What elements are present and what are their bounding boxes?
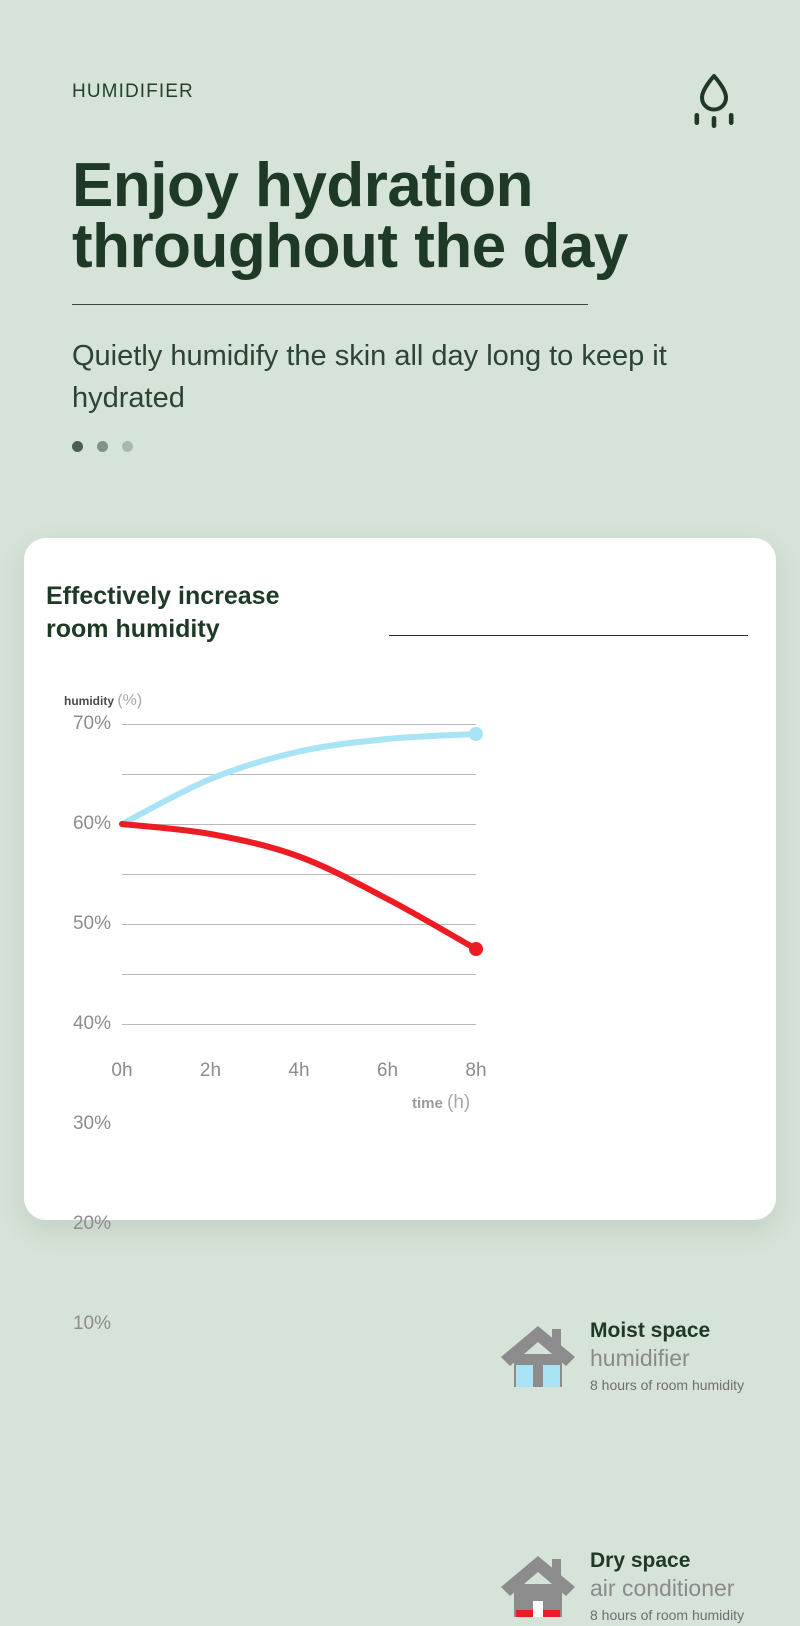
page-subtitle: Quietly humidify the skin all day long t…: [72, 335, 672, 419]
chart-line-moist-space: [122, 734, 476, 824]
card-title: Effectively increase room humidity: [46, 580, 279, 646]
pagination-dots[interactable]: [72, 441, 740, 452]
y-axis-tick-label: 10%: [73, 1313, 111, 1335]
legend-note-moist: 8 hours of room humidity: [590, 1376, 744, 1394]
x-axis-label-name: time: [412, 1095, 443, 1112]
x-axis-tick-label: 0h: [111, 1060, 132, 1082]
x-axis-label-unit: (h): [447, 1092, 470, 1113]
y-axis-tick-label: 30%: [73, 1113, 111, 1135]
hero-divider: [72, 304, 588, 305]
card-header-divider: [389, 635, 748, 637]
legend-text-dry: Dry space air conditioner 8 hours of roo…: [590, 1548, 744, 1626]
chart-series-svg: [122, 724, 476, 1024]
house-dry-icon: [500, 1551, 576, 1623]
pagination-dot-3[interactable]: [122, 441, 133, 452]
hero-header-row: HUMIDIFIER: [72, 72, 740, 128]
x-axis-tick-label: 2h: [200, 1060, 221, 1082]
pagination-dot-1[interactable]: [72, 441, 83, 452]
x-axis-tick-label: 6h: [377, 1060, 398, 1082]
house-humid-icon: [500, 1321, 576, 1393]
y-axis-tick-label: 60%: [73, 813, 111, 835]
legend-item-dry-space[interactable]: Dry space air conditioner 8 hours of roo…: [500, 1548, 744, 1626]
x-axis-label: time (h): [412, 1092, 470, 1114]
legend-note-dry: 8 hours of room humidity: [590, 1606, 744, 1624]
page-title: Enjoy hydration throughout the day: [72, 156, 740, 278]
legend-title-moist: Moist space: [590, 1318, 744, 1344]
card-header: Effectively increase room humidity: [24, 580, 776, 646]
y-axis-tick-label: 20%: [73, 1213, 111, 1235]
water-drop-icon: [688, 72, 740, 128]
y-axis-label: humidity (%): [64, 692, 142, 710]
page-eyebrow: HUMIDIFIER: [72, 72, 194, 101]
humidity-line-chart: humidity (%) 10%20%30%40%50%60%70% 0h2h4…: [24, 692, 776, 1112]
chart-line-dry-space: [122, 824, 476, 949]
y-axis-tick-label: 70%: [73, 713, 111, 735]
legend-subtitle-dry: air conditioner: [590, 1574, 744, 1603]
hero-section: HUMIDIFIER Enjoy hydration throughout th…: [0, 0, 800, 452]
legend-title-dry: Dry space: [590, 1548, 744, 1574]
legend-item-moist-space[interactable]: Moist space humidifier 8 hours of room h…: [500, 1318, 744, 1396]
chart-plot-area: 10%20%30%40%50%60%70%: [122, 724, 476, 1024]
y-axis-tick-label: 40%: [73, 1013, 111, 1035]
y-axis-label-name: humidity: [64, 694, 114, 708]
pagination-dot-2[interactable]: [97, 441, 108, 452]
y-axis-tick-label: 50%: [73, 913, 111, 935]
chart-endpoint-marker: [469, 727, 483, 741]
legend-text-moist: Moist space humidifier 8 hours of room h…: [590, 1318, 744, 1396]
humidity-chart-card: Effectively increase room humidity humid…: [24, 538, 776, 1220]
x-axis-tick-label: 8h: [465, 1060, 486, 1082]
chart-gridline: 10%: [122, 1024, 476, 1025]
chart-endpoint-marker: [469, 942, 483, 956]
legend-subtitle-moist: humidifier: [590, 1344, 744, 1373]
x-axis-tick-label: 4h: [288, 1060, 309, 1082]
y-axis-label-unit: (%): [117, 692, 142, 709]
